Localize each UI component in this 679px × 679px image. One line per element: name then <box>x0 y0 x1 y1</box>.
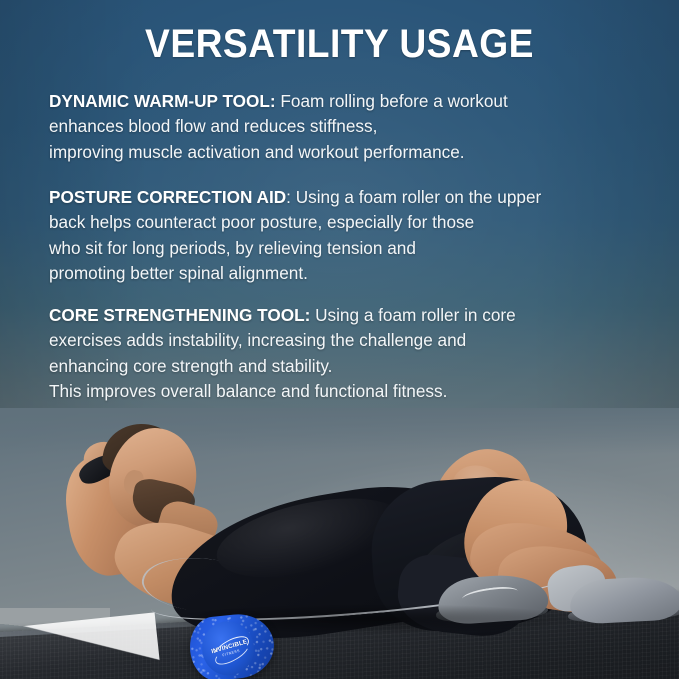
section-2-line-2: back helps counteract poor posture, espe… <box>49 210 649 235</box>
section-2-line-4: promoting better spinal alignment. <box>49 261 649 286</box>
section-1-line-3: improving muscle activation and workout … <box>49 140 649 165</box>
section-3-line-3: enhancing core strength and stability. <box>49 354 649 379</box>
section-3-line-2: exercises adds instability, increasing t… <box>49 328 649 353</box>
section-1-lead: DYNAMIC WARM-UP TOOL: <box>49 91 276 111</box>
section-3-line-1: CORE STRENGTHENING TOOL: Using a foam ro… <box>49 303 649 328</box>
section-posture-correction-aid: POSTURE CORRECTION AID: Using a foam rol… <box>49 185 649 286</box>
section-3-line-4: This improves overall balance and functi… <box>49 379 649 404</box>
page-title: VERSATILITY USAGE <box>24 22 655 67</box>
lifestyle-photo: INVINCIBLE FITNESS <box>0 408 679 679</box>
section-1-line-2: enhances blood flow and reduces stiffnes… <box>49 114 649 139</box>
section-3-lead: CORE STRENGTHENING TOOL: <box>49 305 310 325</box>
section-1-body-1: Foam rolling before a workout <box>276 91 508 111</box>
section-core-strengthening-tool: CORE STRENGTHENING TOOL: Using a foam ro… <box>49 303 649 404</box>
section-2-lead: POSTURE CORRECTION AID <box>49 187 286 207</box>
section-dynamic-warm-up-tool: DYNAMIC WARM-UP TOOL: Foam rolling befor… <box>49 89 649 165</box>
section-3-body-1: Using a foam roller in core <box>310 305 515 325</box>
product-infographic: VERSATILITY USAGE DYNAMIC WARM-UP TOOL: … <box>0 0 679 679</box>
section-2-body-1: : Using a foam roller on the upper <box>286 187 541 207</box>
section-2-line-3: who sit for long periods, by relieving t… <box>49 236 649 261</box>
section-2-line-1: POSTURE CORRECTION AID: Using a foam rol… <box>49 185 649 210</box>
section-1-line-1: DYNAMIC WARM-UP TOOL: Foam rolling befor… <box>49 89 649 114</box>
foam-roller: INVINCIBLE FITNESS <box>187 611 277 679</box>
